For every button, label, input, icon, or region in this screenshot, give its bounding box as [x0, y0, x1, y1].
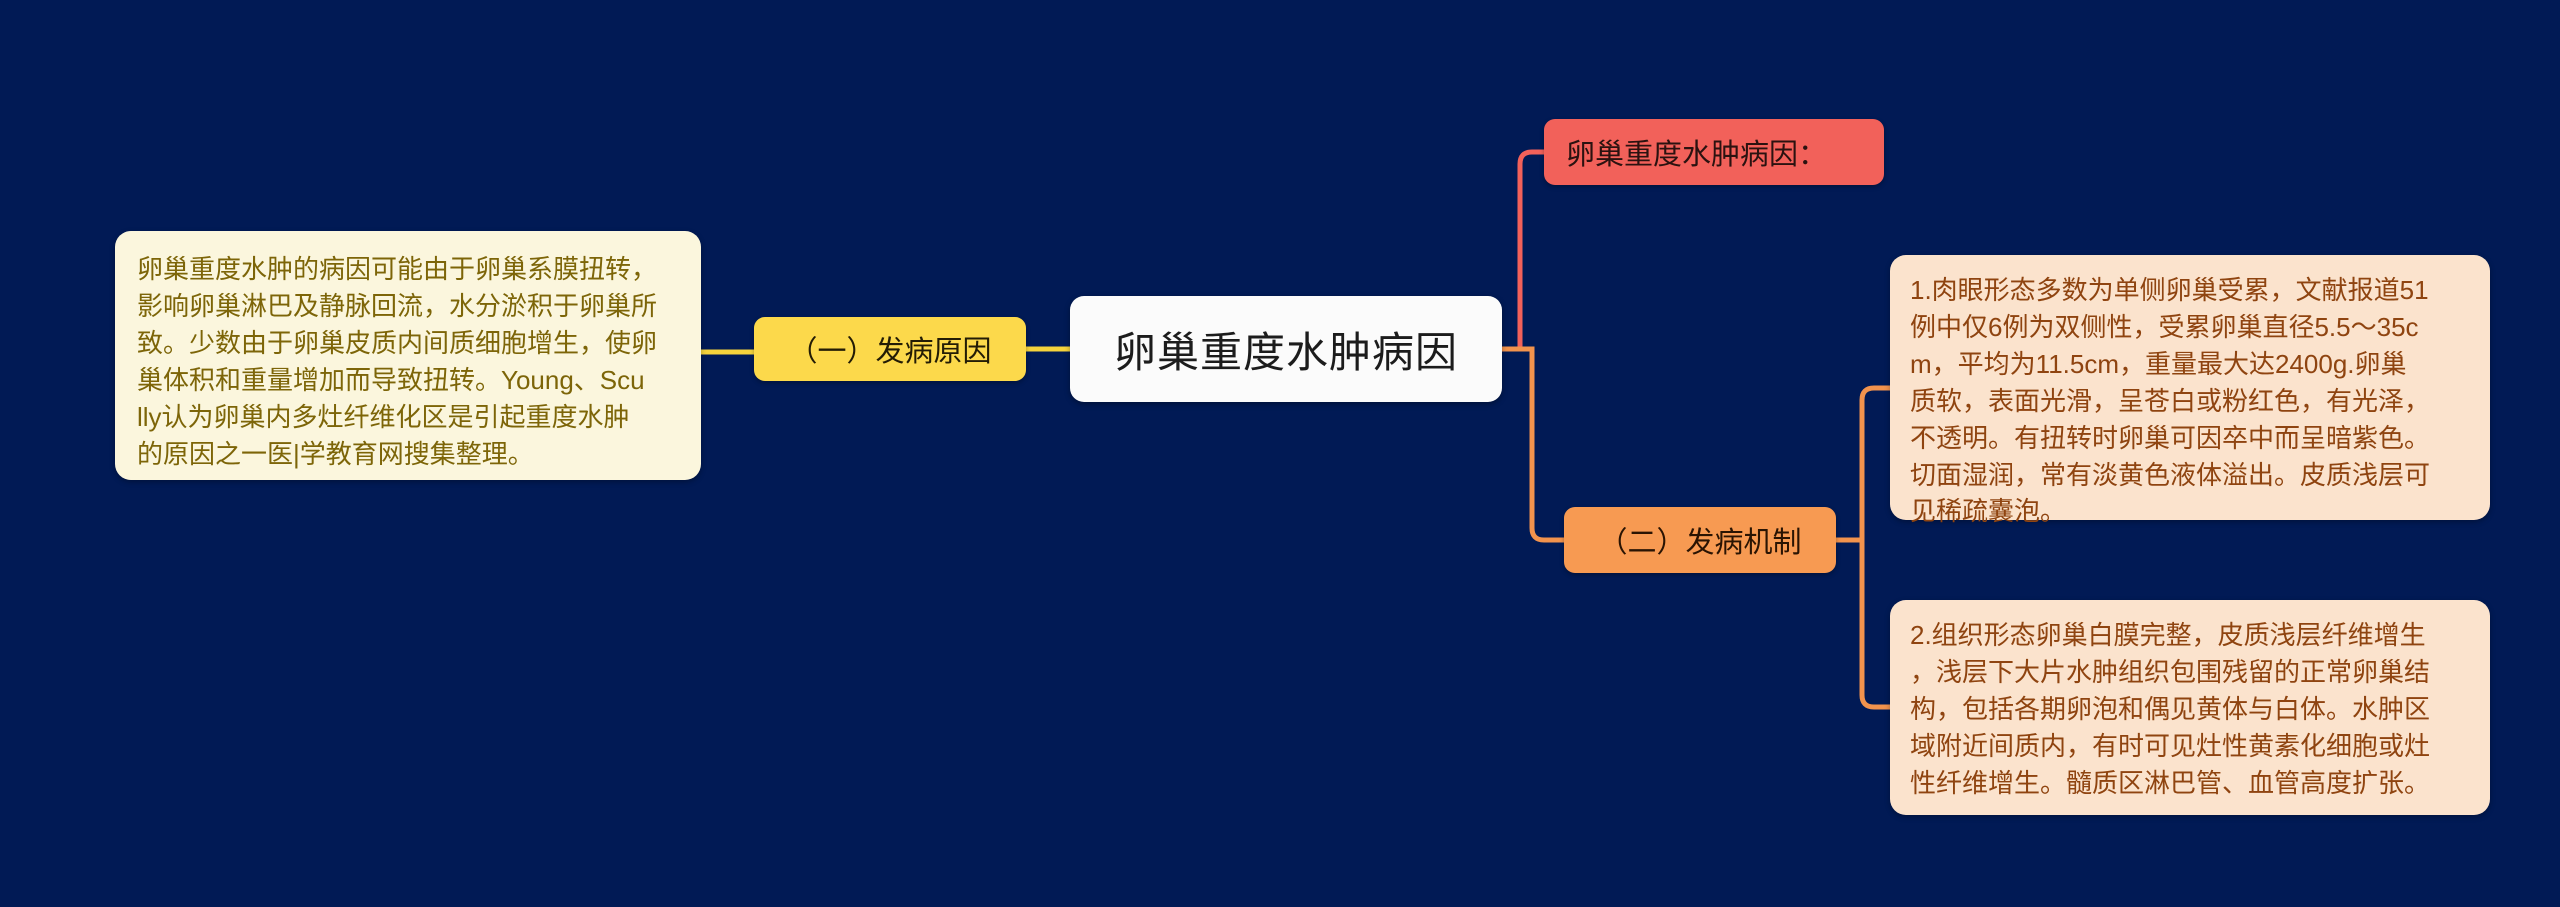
- wire-pathogenesis-leaf1: [1836, 388, 1890, 540]
- leaf-box-histology-text: 2.组织形态卵巢白膜完整，皮质浅层纤维增生 ，浅层下大片水肿组织包围残留的正常卵…: [1910, 617, 2470, 802]
- leaf-box-cause-detail-text: 卵巢重度水肿的病因可能由于卵巢系膜扭转， 影响卵巢淋巴及静脉回流，水分淤积于卵巢…: [137, 251, 679, 472]
- leaf-box-histology[interactable]: 2.组织形态卵巢白膜完整，皮质浅层纤维增生 ，浅层下大片水肿组织包围残留的正常卵…: [1890, 600, 2490, 815]
- wire-root-heading: [1502, 152, 1544, 349]
- branch-node-heading[interactable]: 卵巢重度水肿病因：: [1544, 119, 1884, 185]
- branch-node-pathogenesis[interactable]: （二）发病机制: [1564, 507, 1836, 573]
- leaf-box-cause-detail[interactable]: 卵巢重度水肿的病因可能由于卵巢系膜扭转， 影响卵巢淋巴及静脉回流，水分淤积于卵巢…: [115, 231, 701, 480]
- root-node-label: 卵巢重度水肿病因: [1114, 319, 1458, 380]
- wire-root-pathogenesis: [1502, 349, 1564, 540]
- leaf-box-gross-morphology-text: 1.肉眼形态多数为单侧卵巢受累，文献报道51 例中仅6例为双侧性，受累卵巢直径5…: [1910, 272, 2470, 530]
- leaf-box-gross-morphology[interactable]: 1.肉眼形态多数为单侧卵巢受累，文献报道51 例中仅6例为双侧性，受累卵巢直径5…: [1890, 255, 2490, 520]
- branch-node-heading-label: 卵巢重度水肿病因：: [1544, 131, 1827, 173]
- branch-node-pathogenesis-label: （二）发病机制: [1598, 519, 1801, 561]
- branch-node-cause-label: （一）发病原因: [788, 328, 991, 370]
- mindmap-canvas: 卵巢重度水肿病因 （一）发病原因 （二）发病机制 卵巢重度水肿病因： 卵巢重度水…: [0, 0, 2560, 907]
- root-node[interactable]: 卵巢重度水肿病因: [1070, 296, 1502, 402]
- branch-node-cause[interactable]: （一）发病原因: [754, 317, 1026, 381]
- wire-pathogenesis-leaf2: [1836, 540, 1890, 707]
